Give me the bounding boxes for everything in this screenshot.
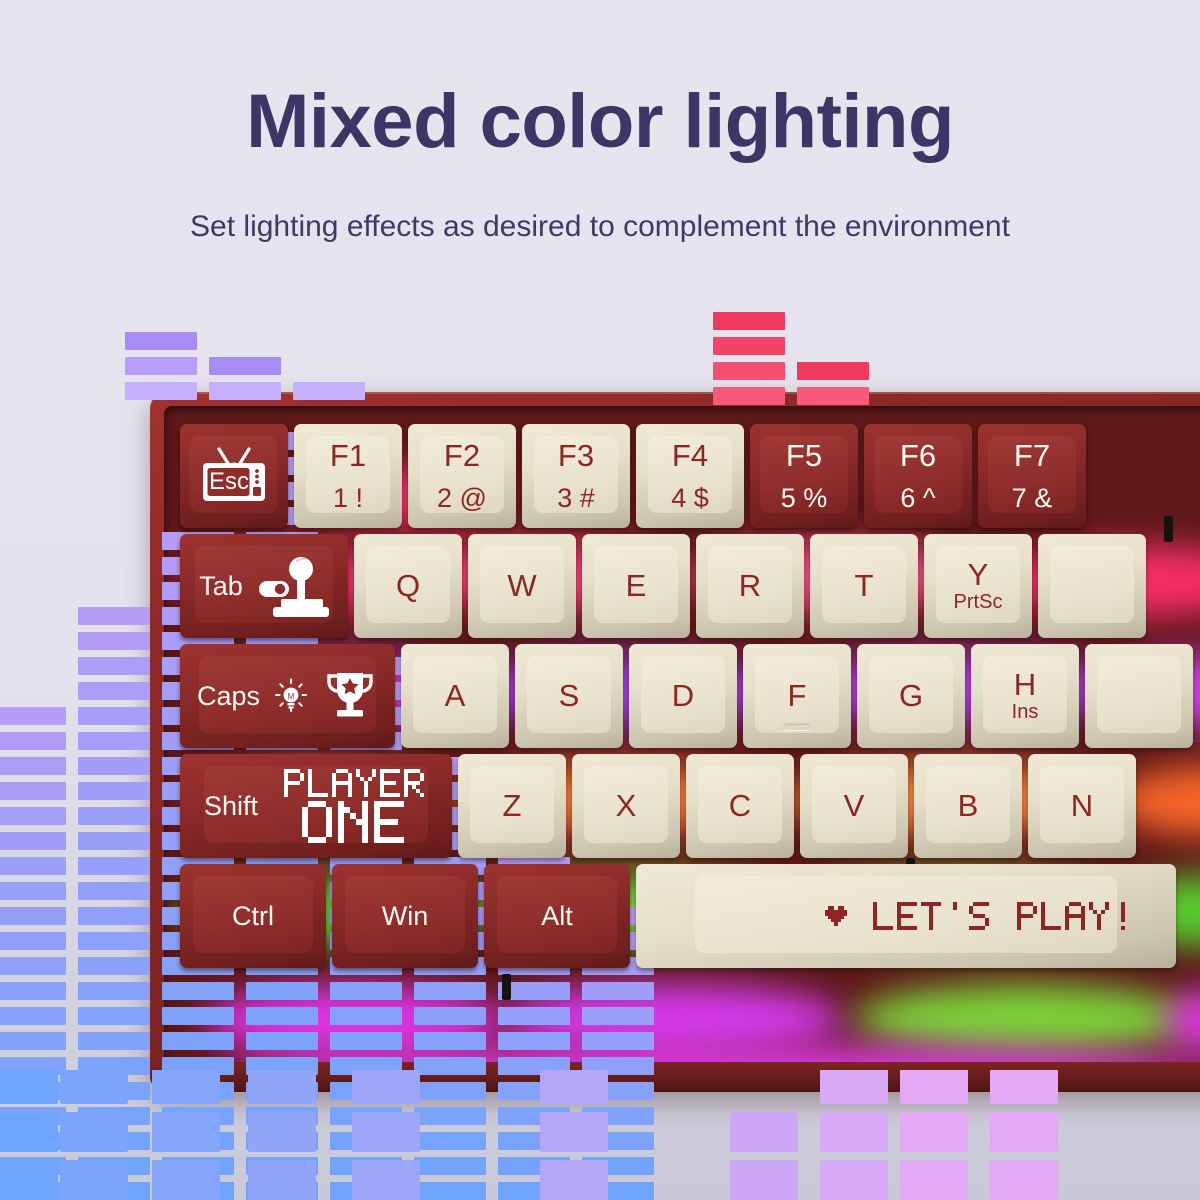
key-sublabel: 3 #: [557, 484, 595, 512]
key-label: N: [1071, 790, 1093, 823]
key-a[interactable]: A: [401, 644, 509, 748]
key-e[interactable]: E: [582, 534, 690, 638]
key-legend: F33 #: [557, 440, 595, 512]
key-sublabel: PrtSc: [954, 592, 1003, 613]
keyboard-row-function-row: Esc F11 !F22 @F33 #F44 $F55 %F66 ^F77 &: [180, 424, 1092, 528]
keycap-face: [1050, 546, 1134, 623]
switch-stem: [502, 974, 511, 1000]
key-legend: Caps M: [197, 668, 378, 724]
key-f6[interactable]: F66 ^: [864, 424, 972, 528]
key-label: Y: [954, 559, 1003, 592]
key-legend: Tab: [199, 553, 329, 619]
key-label: A: [445, 680, 466, 713]
grid-square: [900, 1112, 968, 1152]
key-alt[interactable]: Alt: [484, 864, 630, 968]
key-caps-lock[interactable]: Caps M: [180, 644, 395, 748]
key-sublabel: 4 $: [671, 484, 709, 512]
grid-square: [900, 1070, 968, 1104]
key-legend: W: [507, 570, 536, 603]
grid-square: [248, 1112, 316, 1152]
grid-square: [352, 1160, 420, 1200]
grid-square: [730, 1160, 798, 1200]
joystick-icon: [257, 553, 329, 619]
key-left-shift[interactable]: Shift: [180, 754, 452, 858]
key-label: H: [1012, 669, 1039, 702]
key-t[interactable]: T: [810, 534, 918, 638]
grid-column: [730, 1112, 798, 1200]
grid-column: [248, 1070, 316, 1200]
key-spacebar[interactable]: [636, 864, 1176, 968]
grid-square: [990, 1112, 1058, 1152]
key-label: W: [507, 570, 536, 603]
screenshot-root: Mixed color lighting Set lighting effect…: [0, 0, 1200, 1200]
keyboard-row-shift-row: Shift ZXCVBN: [180, 754, 1142, 858]
key-legend: Alt: [541, 902, 573, 930]
key-legend: G: [899, 680, 923, 713]
grid-column: [990, 1070, 1058, 1200]
equalizer-segment-purple: [125, 357, 197, 375]
esc-screen-text: Esc: [208, 468, 250, 496]
grid-square: [60, 1160, 128, 1200]
equalizer-column-purple: [209, 357, 281, 400]
key-legend: R: [739, 570, 761, 603]
key-label: Shift: [204, 792, 258, 820]
key-sublabel: 7 &: [1012, 484, 1053, 512]
key-c[interactable]: C: [686, 754, 794, 858]
key-f3[interactable]: F33 #: [522, 424, 630, 528]
player-one-line-2: [302, 801, 410, 843]
key-label: Win: [382, 901, 429, 931]
equalizer-segment-pink: [713, 337, 785, 355]
grid-square: [730, 1112, 798, 1152]
keyboard-plate: Esc F11 !F22 @F33 #F44 $F55 %F66 ^F77 & …: [164, 406, 1200, 1064]
key-tab[interactable]: Tab: [180, 534, 348, 638]
key-label: F2: [437, 440, 487, 473]
grid-column: [540, 1070, 608, 1200]
equalizer-segment-pink: [797, 387, 869, 405]
key-sublabel: 2 @: [437, 484, 487, 512]
key-j[interactable]: [1085, 644, 1193, 748]
key-legend: T: [855, 570, 874, 603]
key-legend: N: [1071, 790, 1093, 823]
key-label: F7: [1012, 440, 1053, 473]
grid-square: [820, 1112, 888, 1152]
grid-square: [0, 1070, 58, 1104]
equalizer-segment-purple: [125, 332, 197, 350]
key-legend: A: [445, 680, 466, 713]
key-sublabel: 1 !: [330, 484, 366, 512]
key-label: S: [559, 680, 580, 713]
key-label: X: [616, 790, 637, 823]
equalizer-column-purple: [125, 332, 197, 400]
grid-square: [152, 1112, 220, 1152]
equalizer-segment-purple: [125, 382, 197, 400]
keycap-face: [1097, 656, 1181, 733]
key-f7[interactable]: F77 &: [978, 424, 1086, 528]
key-f[interactable]: F: [743, 644, 851, 748]
key-legend: D: [672, 680, 694, 713]
grid-square: [990, 1070, 1058, 1104]
key-esc[interactable]: Esc: [180, 424, 288, 528]
keyboard-row-caps-row: Caps M ASDFGHIns: [180, 644, 1199, 748]
key-label: F3: [557, 440, 595, 473]
key-d[interactable]: D: [629, 644, 737, 748]
key-s[interactable]: S: [515, 644, 623, 748]
retro-tv-icon: Esc: [201, 443, 267, 505]
grid-square: [248, 1160, 316, 1200]
key-f1[interactable]: F11 !: [294, 424, 402, 528]
key-f4[interactable]: F44 $: [636, 424, 744, 528]
key-label: F1: [330, 440, 366, 473]
key-legend: Q: [396, 570, 420, 603]
key-label: G: [899, 680, 923, 713]
pixel-grid-bottom: [0, 1070, 1200, 1200]
key-sublabel: Ins: [1012, 702, 1039, 723]
key-sublabel: 5 %: [781, 484, 828, 512]
key-legend: C: [729, 790, 751, 823]
key-x[interactable]: X: [572, 754, 680, 858]
key-legend: F55 %: [781, 440, 828, 512]
grid-column: [352, 1070, 420, 1200]
key-u[interactable]: [1038, 534, 1146, 638]
key-label: V: [844, 790, 865, 823]
key-f5[interactable]: F55 %: [750, 424, 858, 528]
key-legend: E: [626, 570, 647, 603]
key-b[interactable]: B: [914, 754, 1022, 858]
equalizer-segment-pink: [797, 362, 869, 380]
key-n[interactable]: N: [1028, 754, 1136, 858]
grid-square: [0, 1160, 58, 1200]
lightbulb-icon: M: [274, 678, 308, 714]
key-z[interactable]: Z: [458, 754, 566, 858]
grid-column: [152, 1070, 220, 1200]
grid-column: [900, 1070, 968, 1200]
trophy-icon: [322, 668, 378, 724]
key-label: F5: [781, 440, 828, 473]
key-h[interactable]: HIns: [971, 644, 1079, 748]
key-r[interactable]: R: [696, 534, 804, 638]
equalizer-segment-pink: [713, 312, 785, 330]
key-label: E: [626, 570, 647, 603]
grid-square: [540, 1070, 608, 1104]
switch-stem: [1164, 516, 1173, 542]
key-label: R: [739, 570, 761, 603]
key-label: Z: [503, 790, 522, 823]
key-label: D: [672, 680, 694, 713]
grid-square: [152, 1070, 220, 1104]
key-q[interactable]: Q: [354, 534, 462, 638]
equalizer-segment-pink: [713, 387, 785, 405]
key-label: F: [788, 680, 807, 713]
key-f2[interactable]: F22 @: [408, 424, 516, 528]
equalizer-segment-purple: [209, 382, 281, 400]
svg-text:M: M: [288, 692, 295, 701]
key-legend: X: [616, 790, 637, 823]
keyboard-row-tab-row: Tab QWERTYPrtSc: [180, 534, 1152, 638]
key-win[interactable]: Win: [332, 864, 478, 968]
equalizer-column-pink: [713, 312, 785, 405]
equalizer-column-purple: [293, 382, 365, 400]
key-label: T: [855, 570, 874, 603]
key-legend: F22 @: [437, 440, 487, 512]
key-legend: YPrtSc: [954, 559, 1003, 614]
grid-square: [152, 1160, 220, 1200]
equalizer-segment-purple: [209, 357, 281, 375]
key-label: Caps: [197, 682, 260, 710]
equalizer-segment-pink: [713, 362, 785, 380]
player-one-line-1: [284, 769, 428, 797]
key-ctrl[interactable]: Ctrl: [180, 864, 326, 968]
grid-square: [820, 1070, 888, 1104]
key-y[interactable]: YPrtSc: [924, 534, 1032, 638]
player-one-logo: [284, 769, 428, 843]
grid-square: [60, 1112, 128, 1152]
grid-column: [60, 1070, 128, 1200]
key-sublabel: 6 ^: [900, 484, 936, 512]
key-legend: F66 ^: [900, 440, 936, 512]
equalizer-segment-purple: [293, 382, 365, 400]
key-legend: [636, 902, 1176, 930]
key-label: Alt: [541, 901, 573, 931]
key-label: Tab: [199, 572, 243, 600]
key-legend: V: [844, 790, 865, 823]
pixel-heart-icon: [825, 906, 847, 925]
key-legend: Esc: [201, 443, 267, 510]
key-legend: HIns: [1012, 669, 1039, 724]
key-label: Ctrl: [232, 901, 274, 931]
grid-square: [900, 1160, 968, 1200]
homing-bar: [784, 725, 810, 730]
key-label: B: [958, 790, 979, 823]
key-legend: F11 !: [330, 440, 366, 512]
key-label: F4: [671, 440, 709, 473]
key-label: Q: [396, 570, 420, 603]
grid-column: [0, 1070, 58, 1200]
equalizer-column-pink: [797, 362, 869, 405]
key-legend: Shift: [204, 769, 428, 843]
key-legend: F77 &: [1012, 440, 1053, 512]
grid-square: [352, 1070, 420, 1104]
grid-square: [0, 1112, 58, 1152]
key-legend: F: [788, 680, 807, 713]
grid-square: [248, 1070, 316, 1104]
key-g[interactable]: G: [857, 644, 965, 748]
grid-square: [540, 1112, 608, 1152]
spacebar-text: [873, 902, 1137, 930]
key-label: F6: [900, 440, 936, 473]
grid-square: [540, 1160, 608, 1200]
key-legend: S: [559, 680, 580, 713]
grid-square: [820, 1160, 888, 1200]
grid-square: [60, 1070, 128, 1104]
key-legend: Ctrl: [232, 902, 274, 930]
grid-square: [352, 1112, 420, 1152]
key-legend: Win: [382, 902, 429, 930]
key-w[interactable]: W: [468, 534, 576, 638]
key-v[interactable]: V: [800, 754, 908, 858]
key-legend: F44 $: [671, 440, 709, 512]
key-legend: Z: [503, 790, 522, 823]
grid-square: [990, 1160, 1058, 1200]
grid-column: [820, 1070, 888, 1200]
key-legend: B: [958, 790, 979, 823]
key-label: C: [729, 790, 751, 823]
